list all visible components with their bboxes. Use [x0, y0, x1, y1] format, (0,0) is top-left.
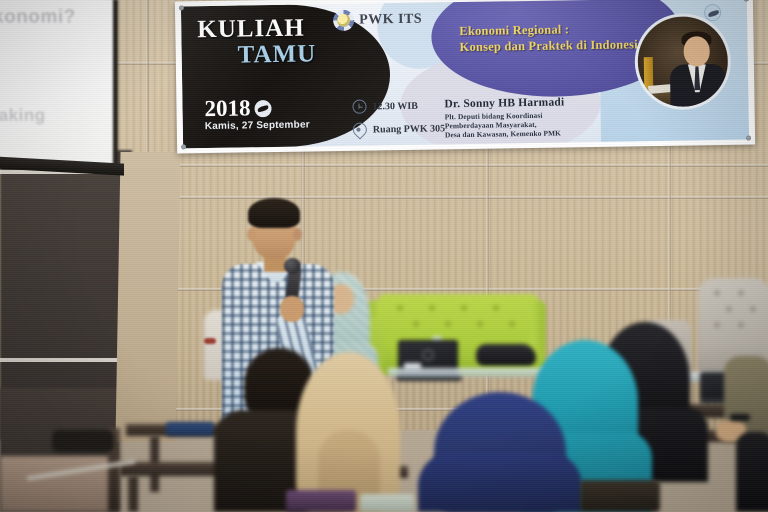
audience-navy-hijab-torso: [418, 452, 582, 512]
portrait-face: [683, 36, 709, 66]
laptop-on-glass-table[interactable]: [396, 340, 462, 384]
pwk-its-logo-text: PWK ITS: [359, 11, 422, 28]
speaker-hand: [280, 296, 304, 322]
dell-logo-icon: [423, 350, 434, 361]
banner-grommet: [746, 136, 751, 141]
banner-room-row: Ruang PWK 305: [353, 121, 445, 136]
banner-time-text: 12.30 WIB: [372, 100, 418, 112]
banner-topic-line1: Ekonomi Regional :: [459, 22, 569, 39]
banner-speaker-role-line3: Desa dan Kawasan, Kemenko PMK: [445, 129, 561, 140]
projection-text-line1: ekonomi?: [0, 6, 76, 28]
banner-grommet: [179, 5, 184, 10]
location-pin-icon: [350, 120, 370, 140]
audience-person-right-dark: [736, 432, 768, 512]
black-bag-on-bench: [52, 430, 114, 452]
audience-right-wristwatch: [730, 414, 750, 421]
speaker-portrait-photo: [634, 13, 731, 110]
banner-topic-line2: Konsep dan Praktek di Indonesia: [459, 37, 644, 55]
banner-year: 2018: [204, 95, 250, 122]
projection-screen: ekonomi? Making: [0, 0, 118, 171]
banner-grommet: [744, 0, 749, 2]
banner-room-text: Ruang PWK 305: [373, 123, 445, 135]
paper-stack: [360, 494, 414, 512]
speaker-ear-right: [293, 228, 302, 241]
wall-highlight: [0, 358, 128, 362]
notebook-purple: [286, 490, 356, 512]
pwk-its-logo: PWK ITS: [333, 9, 422, 31]
speaker-hair: [248, 198, 300, 228]
speaker-wristband: [204, 338, 216, 344]
event-banner: KULIAH TAMU 2018 Kamis, 27 September PWK…: [175, 0, 755, 154]
chair-back-front-right: [580, 480, 660, 512]
black-bag-on-sofa: [476, 344, 536, 366]
lecture-room-photo: ekonomi? Making KULIAH TAMU 2018 Kamis, …: [0, 0, 768, 512]
banner-grommet: [181, 144, 186, 149]
banner-title-tamu: TAMU: [237, 40, 316, 69]
desk-leg: [128, 476, 138, 512]
microphone-head: [284, 258, 301, 274]
wall-strip: [115, 152, 180, 442]
speaker-ear-left: [247, 228, 256, 241]
pwk-its-logo-icon: [333, 10, 354, 31]
banner-date: Kamis, 27 September: [205, 119, 310, 132]
banner-speaker-name: Dr. Sonny HB Harmadi: [444, 96, 564, 110]
banner-title-kuliah: KULIAH: [197, 15, 305, 45]
clock-icon: [352, 100, 366, 114]
banner-meta-block: 12.30 WIB Ruang PWK 305: [352, 98, 445, 136]
banner-time-row: 12.30 WIB: [352, 98, 444, 113]
blue-pouch: [166, 422, 214, 436]
projection-text-line2: Making: [0, 106, 46, 126]
glass-coffee-table: [388, 368, 548, 377]
